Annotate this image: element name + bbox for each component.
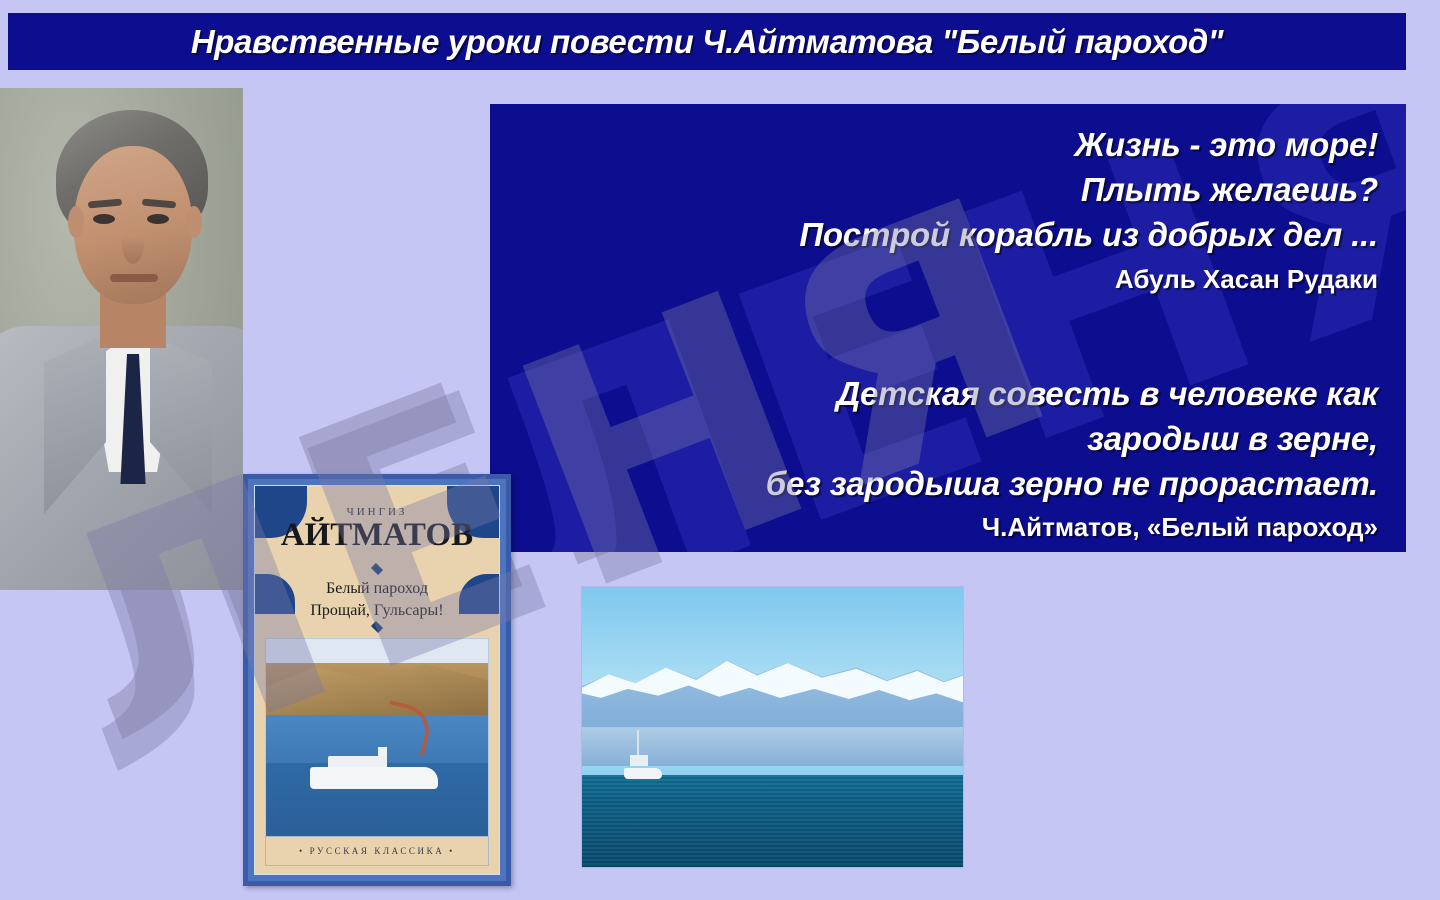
slide-title-bar: Нравственные уроки повести Ч.Айтматова "… bbox=[8, 13, 1406, 70]
book-titles: Белый пароход Прощай, Гульсары! bbox=[255, 578, 499, 621]
book-diamond-ornament-icon bbox=[371, 563, 383, 575]
quote-author: Абуль Хасан Рудаки bbox=[520, 260, 1378, 299]
quote-block-rudaki: Жизнь - это море! Плыть желаешь? Построй… bbox=[520, 122, 1378, 299]
quote-line: зародыш в зерне, bbox=[520, 416, 1378, 461]
portrait-ear-right bbox=[186, 206, 202, 238]
page-title: Нравственные уроки повести Ч.Айтматова "… bbox=[191, 23, 1223, 61]
lake-boat-icon bbox=[624, 768, 662, 779]
book-photo-steamship-icon bbox=[310, 767, 438, 789]
book-cover-photo bbox=[265, 638, 489, 840]
portrait-eye-right bbox=[147, 214, 169, 224]
lake-water bbox=[582, 775, 963, 867]
book-series-banner: • РУССКАЯ КЛАССИКА • bbox=[265, 836, 489, 866]
quote-block-aitmatov: Детская совесть в человеке как зародыш в… bbox=[520, 371, 1378, 548]
book-series-label: • РУССКАЯ КЛАССИКА • bbox=[299, 846, 455, 856]
portrait-mouth bbox=[110, 274, 158, 282]
quote-line: без зародыша зерно не прорастает. bbox=[520, 461, 1378, 506]
lake-boat-mast-icon bbox=[637, 730, 639, 756]
book-title-line-1: Белый пароход bbox=[255, 578, 499, 600]
lake-boat-cabin-icon bbox=[630, 755, 648, 766]
book-photo-hills bbox=[266, 657, 488, 715]
quote-line: Плыть желаешь? bbox=[520, 167, 1378, 212]
portrait-nose bbox=[122, 224, 144, 264]
quotes-panel: ЛЕНЯ Жизнь - это море! Плыть желаешь? По… bbox=[490, 104, 1406, 552]
portrait-eye-left bbox=[93, 214, 115, 224]
portrait-ear-left bbox=[68, 206, 84, 238]
book-cover-inner: ЧИНГИЗ АЙТМАТОВ Белый пароход Прощай, Гу… bbox=[254, 485, 500, 875]
author-portrait-photo bbox=[0, 88, 243, 590]
quote-line: Жизнь - это море! bbox=[520, 122, 1378, 167]
lake-landscape-photo bbox=[581, 586, 964, 868]
presentation-slide: ЛЕНЯ Нравственные уроки повести Ч.Айтмат… bbox=[0, 0, 1440, 900]
quote-line: Построй корабль из добрых дел ... bbox=[520, 212, 1378, 257]
book-author-last-name: АЙТМАТОВ bbox=[255, 517, 499, 554]
book-cover-image: ЧИНГИЗ АЙТМАТОВ Белый пароход Прощай, Гу… bbox=[243, 474, 511, 886]
quote-author: Ч.Айтматов, «Белый пароход» bbox=[520, 508, 1378, 547]
quote-line: Детская совесть в человеке как bbox=[520, 371, 1378, 416]
book-title-line-2: Прощай, Гульсары! bbox=[255, 600, 499, 622]
book-diamond-ornament-icon bbox=[371, 621, 383, 633]
